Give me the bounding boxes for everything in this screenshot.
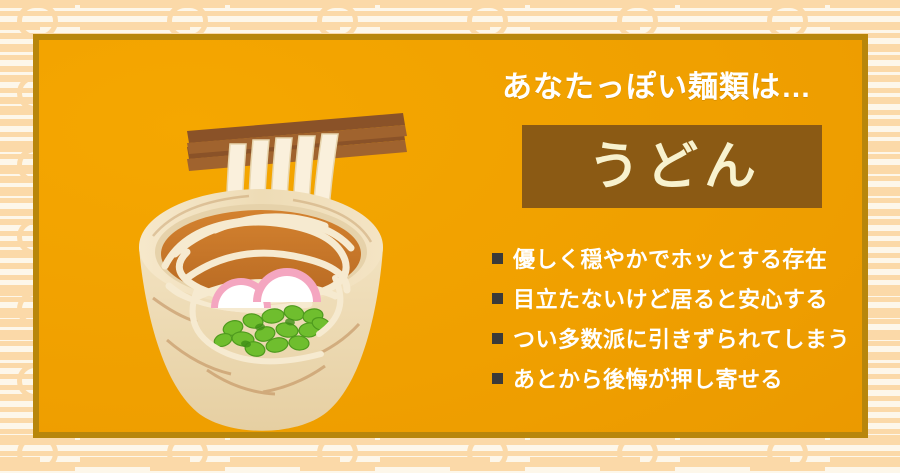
answer-label: うどん [582,141,762,193]
bullet-square-icon [492,333,503,344]
trait-label: つい多数派に引きずられてしまう [513,322,850,354]
list-item: 優しく穏やかでホッとする存在 [492,238,862,278]
text-column: あなたっぽい麺類は… うどん 優しく穏やかでホッとする存在 目立たないけど居ると… [464,40,862,432]
result-card-screen: あなたっぽい麺類は… うどん 優しく穏やかでホッとする存在 目立たないけど居ると… [0,0,900,473]
trait-label: 優しく穏やかでホッとする存在 [513,242,827,274]
bullet-square-icon [492,253,503,264]
page-title: あなたっぽい麺類は… [502,62,862,106]
bullet-square-icon [492,293,503,304]
list-item: あとから後悔が押し寄せる [492,358,862,398]
result-card-frame: あなたっぽい麺類は… うどん 優しく穏やかでホッとする存在 目立たないけど居ると… [33,34,868,438]
trait-label: あとから後悔が押し寄せる [513,362,783,394]
bullet-square-icon [492,373,503,384]
list-item: つい多数派に引きずられてしまう [492,318,862,358]
result-card: あなたっぽい麺類は… うどん 優しく穏やかでホッとする存在 目立たないけど居ると… [39,40,862,432]
udon-bowl-illustration [47,40,467,432]
trait-label: 目立たないけど居ると安心する [513,282,828,314]
answer-badge: うどん [522,125,822,208]
list-item: 目立たないけど居ると安心する [492,278,862,318]
trait-list: 優しく穏やかでホッとする存在 目立たないけど居ると安心する つい多数派に引きずら… [492,238,862,398]
